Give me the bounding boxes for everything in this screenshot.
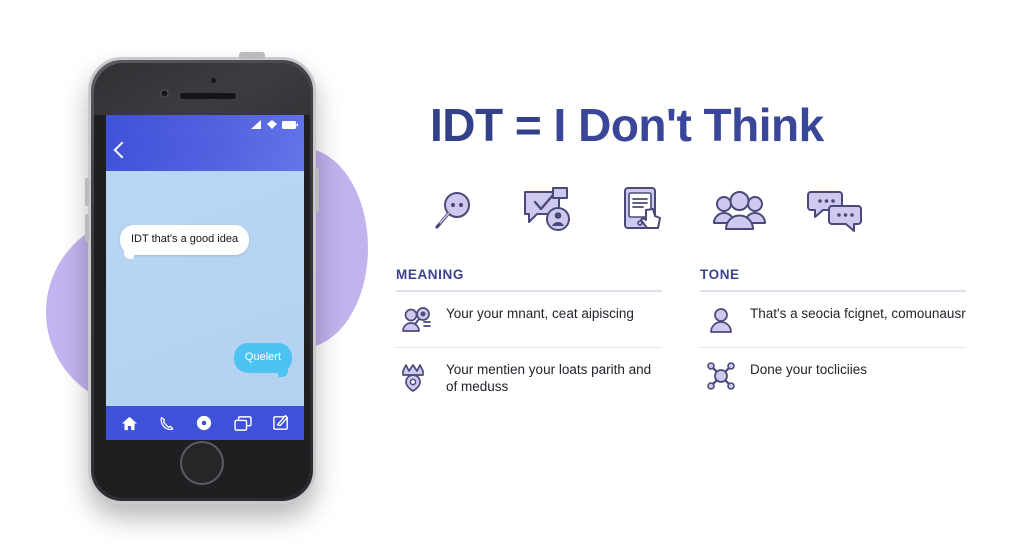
person-icon	[704, 305, 738, 335]
phone-screen: IDT that's a good idea Quelert	[106, 115, 304, 440]
magnifier-dots-icon	[424, 183, 480, 239]
column-tone: TONE That's a seocia fcignet, comounausr	[700, 267, 966, 408]
icon-strip	[424, 181, 966, 239]
home-icon[interactable]	[121, 416, 138, 431]
volume-up-button[interactable]	[85, 178, 89, 206]
status-icons	[251, 120, 298, 129]
group-people-icon	[712, 183, 768, 239]
signal-icon	[251, 120, 262, 129]
column-meaning: MEANING Your your mnant, ceat aip	[396, 267, 662, 408]
list-item[interactable]: Your your mnant, ceat aipiscing	[396, 292, 662, 348]
two-chat-bubbles-icon	[808, 183, 864, 239]
message-bubble-outgoing[interactable]: Quelert	[234, 343, 292, 373]
title-equals: =	[515, 99, 541, 151]
column-header-meaning: MEANING	[396, 267, 662, 290]
chevron-left-icon[interactable]	[114, 142, 131, 159]
title-abbreviation: IDT	[430, 99, 503, 151]
list-item-text: That's a seocia fcignet, comounausr	[750, 305, 966, 322]
list-item[interactable]: Your mentien your loats parith and of me…	[396, 348, 662, 408]
phone-top-bezel	[94, 63, 310, 115]
infographic-canvas: IDT that's a good idea Quelert	[0, 0, 1024, 559]
list-item-text: Your mentien your loats parith and of me…	[446, 361, 662, 396]
list-item[interactable]: Done your tocliciies	[700, 348, 966, 403]
phone-mockup: IDT that's a good idea Quelert	[88, 57, 316, 504]
record-icon[interactable]	[196, 415, 212, 431]
tablet-hand-icon	[616, 183, 672, 239]
speech-bubble-person-icon	[520, 183, 576, 239]
list-item[interactable]: That's a seocia fcignet, comounausr	[700, 292, 966, 348]
content-panel: IDT = I Don't Think	[396, 100, 966, 407]
chat-thread: IDT that's a good idea Quelert	[106, 171, 304, 406]
status-bar	[106, 115, 304, 137]
front-camera-icon	[160, 89, 169, 98]
earpiece-speaker-icon	[180, 93, 236, 99]
title-expansion: I Don't Think	[554, 99, 824, 151]
phone-body: IDT that's a good idea Quelert	[94, 63, 310, 498]
compose-icon[interactable]	[273, 415, 289, 431]
message-bubble-incoming[interactable]: IDT that's a good idea	[120, 225, 249, 255]
list-item-text: Done your tocliciies	[750, 361, 867, 378]
window-icon[interactable]	[234, 416, 252, 431]
wifi-icon	[267, 120, 277, 129]
proximity-sensor-icon	[211, 78, 216, 83]
app-tab-bar	[106, 406, 304, 440]
list-item-text: Your your mnant, ceat aipiscing	[446, 305, 634, 322]
person-search-icon	[400, 305, 434, 335]
battery-icon	[282, 121, 298, 129]
power-button[interactable]	[239, 52, 265, 59]
network-node-icon	[704, 361, 738, 391]
side-button-right[interactable]	[315, 168, 319, 212]
volume-down-button[interactable]	[85, 214, 89, 242]
detail-columns: MEANING Your your mnant, ceat aip	[396, 267, 966, 408]
home-button[interactable]	[180, 441, 224, 485]
page-title: IDT = I Don't Think	[430, 100, 966, 151]
column-header-tone: TONE	[700, 267, 966, 290]
app-navigation-bar	[106, 137, 304, 171]
phone-icon[interactable]	[159, 416, 174, 431]
map-pin-icon	[400, 361, 434, 391]
